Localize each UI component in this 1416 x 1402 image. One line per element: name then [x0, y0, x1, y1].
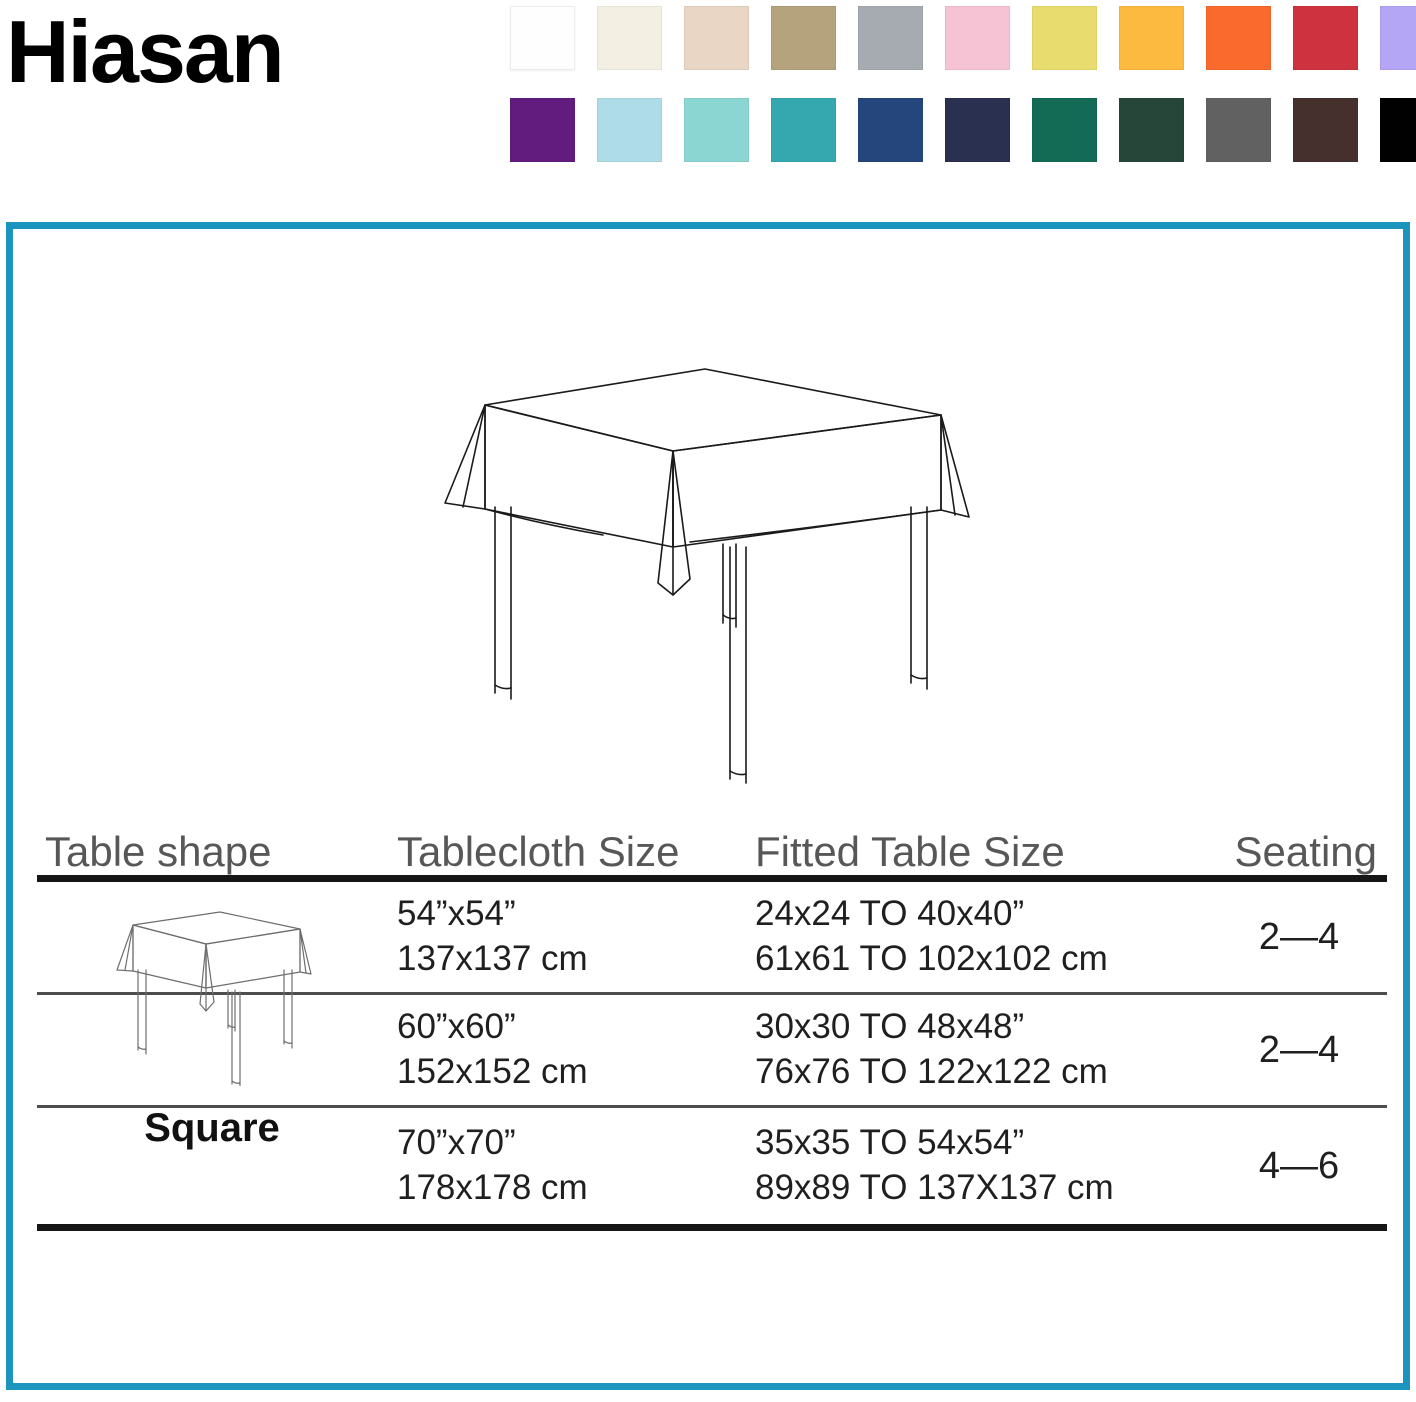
fitted-size-cm: 89x89 TO 137X137 cm — [755, 1166, 1227, 1211]
color-swatch-dark-navy[interactable] — [945, 98, 1010, 162]
table-header-row: Table shape Tablecloth Size Fitted Table… — [37, 811, 1387, 875]
cloth-size-inches: 54”x54” — [397, 892, 747, 937]
fitted-size-inches: 35x35 TO 54x54” — [755, 1121, 1227, 1166]
cloth-size-cm: 178x178 cm — [397, 1166, 747, 1211]
color-swatch-navy-blue[interactable] — [858, 98, 923, 162]
fitted-size-cm: 76x76 TO 122x122 cm — [755, 1050, 1227, 1095]
cell-fitted-table-size: 35x35 TO 54x54” 89x89 TO 137X137 cm — [747, 1121, 1227, 1211]
color-swatch-brown[interactable] — [1293, 98, 1358, 162]
color-swatch-grid — [510, 6, 1410, 162]
cell-fitted-table-size: 24x24 TO 40x40” 61x61 TO 102x102 cm — [747, 892, 1227, 982]
color-swatch-beige[interactable] — [684, 6, 749, 70]
footer-rule — [37, 1224, 1387, 1231]
color-swatch-marigold[interactable] — [1119, 6, 1184, 70]
fitted-size-inches: 30x30 TO 48x48” — [755, 1005, 1227, 1050]
color-swatch-row-2 — [510, 98, 1410, 162]
fitted-size-cm: 61x61 TO 102x102 cm — [755, 937, 1227, 982]
color-swatch-teal[interactable] — [771, 98, 836, 162]
table-body: Square 54”x54” 137x137 cm 24x24 TO 40x40… — [37, 882, 1387, 1224]
color-swatch-orange[interactable] — [1206, 6, 1271, 70]
cell-tablecloth-size: 60”x60” 152x152 cm — [387, 1005, 747, 1095]
column-header-seating: Seating — [1227, 831, 1387, 873]
color-swatch-light-gray[interactable] — [858, 6, 923, 70]
color-swatch-black[interactable] — [1380, 98, 1416, 162]
color-swatch-baby-blue[interactable] — [597, 98, 662, 162]
cell-seating: 4—6 — [1227, 1142, 1387, 1191]
top-banner: Hiasan — [0, 0, 1416, 200]
square-table-illustration — [433, 347, 979, 799]
color-swatch-white[interactable] — [510, 6, 575, 70]
column-header-fitted-table-size: Fitted Table Size — [747, 831, 1227, 873]
color-swatch-taupe[interactable] — [771, 6, 836, 70]
color-swatch-lavender[interactable] — [1380, 6, 1416, 70]
size-chart-frame: Table shape Tablecloth Size Fitted Table… — [6, 222, 1410, 1390]
column-header-tablecloth-size: Tablecloth Size — [387, 831, 747, 873]
color-swatch-red[interactable] — [1293, 6, 1358, 70]
cell-seating: 2—4 — [1227, 1026, 1387, 1075]
cloth-size-cm: 152x152 cm — [397, 1050, 747, 1095]
table-row: 54”x54” 137x137 cm 24x24 TO 40x40” 61x61… — [37, 882, 1387, 992]
color-swatch-light-pink[interactable] — [945, 6, 1010, 70]
column-header-table-shape: Table shape — [37, 831, 387, 873]
cloth-size-inches: 60”x60” — [397, 1005, 747, 1050]
cloth-size-inches: 70”x70” — [397, 1121, 747, 1166]
table-row: 60”x60” 152x152 cm 30x30 TO 48x48” 76x76… — [37, 995, 1387, 1105]
size-table: Table shape Tablecloth Size Fitted Table… — [37, 811, 1387, 1231]
color-swatch-dark-gray[interactable] — [1206, 98, 1271, 162]
table-row: 70”x70” 178x178 cm 35x35 TO 54x54” 89x89… — [37, 1108, 1387, 1224]
header-rule — [37, 875, 1387, 882]
color-swatch-ivory[interactable] — [597, 6, 662, 70]
cell-tablecloth-size: 54”x54” 137x137 cm — [387, 892, 747, 982]
brand-logo: Hiasan — [6, 8, 283, 96]
fitted-size-inches: 24x24 TO 40x40” — [755, 892, 1227, 937]
cell-tablecloth-size: 70”x70” 178x178 cm — [387, 1121, 747, 1211]
color-swatch-yellow[interactable] — [1032, 6, 1097, 70]
color-swatch-row-1 — [510, 6, 1410, 70]
cell-seating: 2—4 — [1227, 913, 1387, 962]
cell-fitted-table-size: 30x30 TO 48x48” 76x76 TO 122x122 cm — [747, 1005, 1227, 1095]
color-swatch-aqua[interactable] — [684, 98, 749, 162]
color-swatch-emerald[interactable] — [1032, 98, 1097, 162]
color-swatch-hunter-green[interactable] — [1119, 98, 1184, 162]
color-swatch-purple[interactable] — [510, 98, 575, 162]
cloth-size-cm: 137x137 cm — [397, 937, 747, 982]
